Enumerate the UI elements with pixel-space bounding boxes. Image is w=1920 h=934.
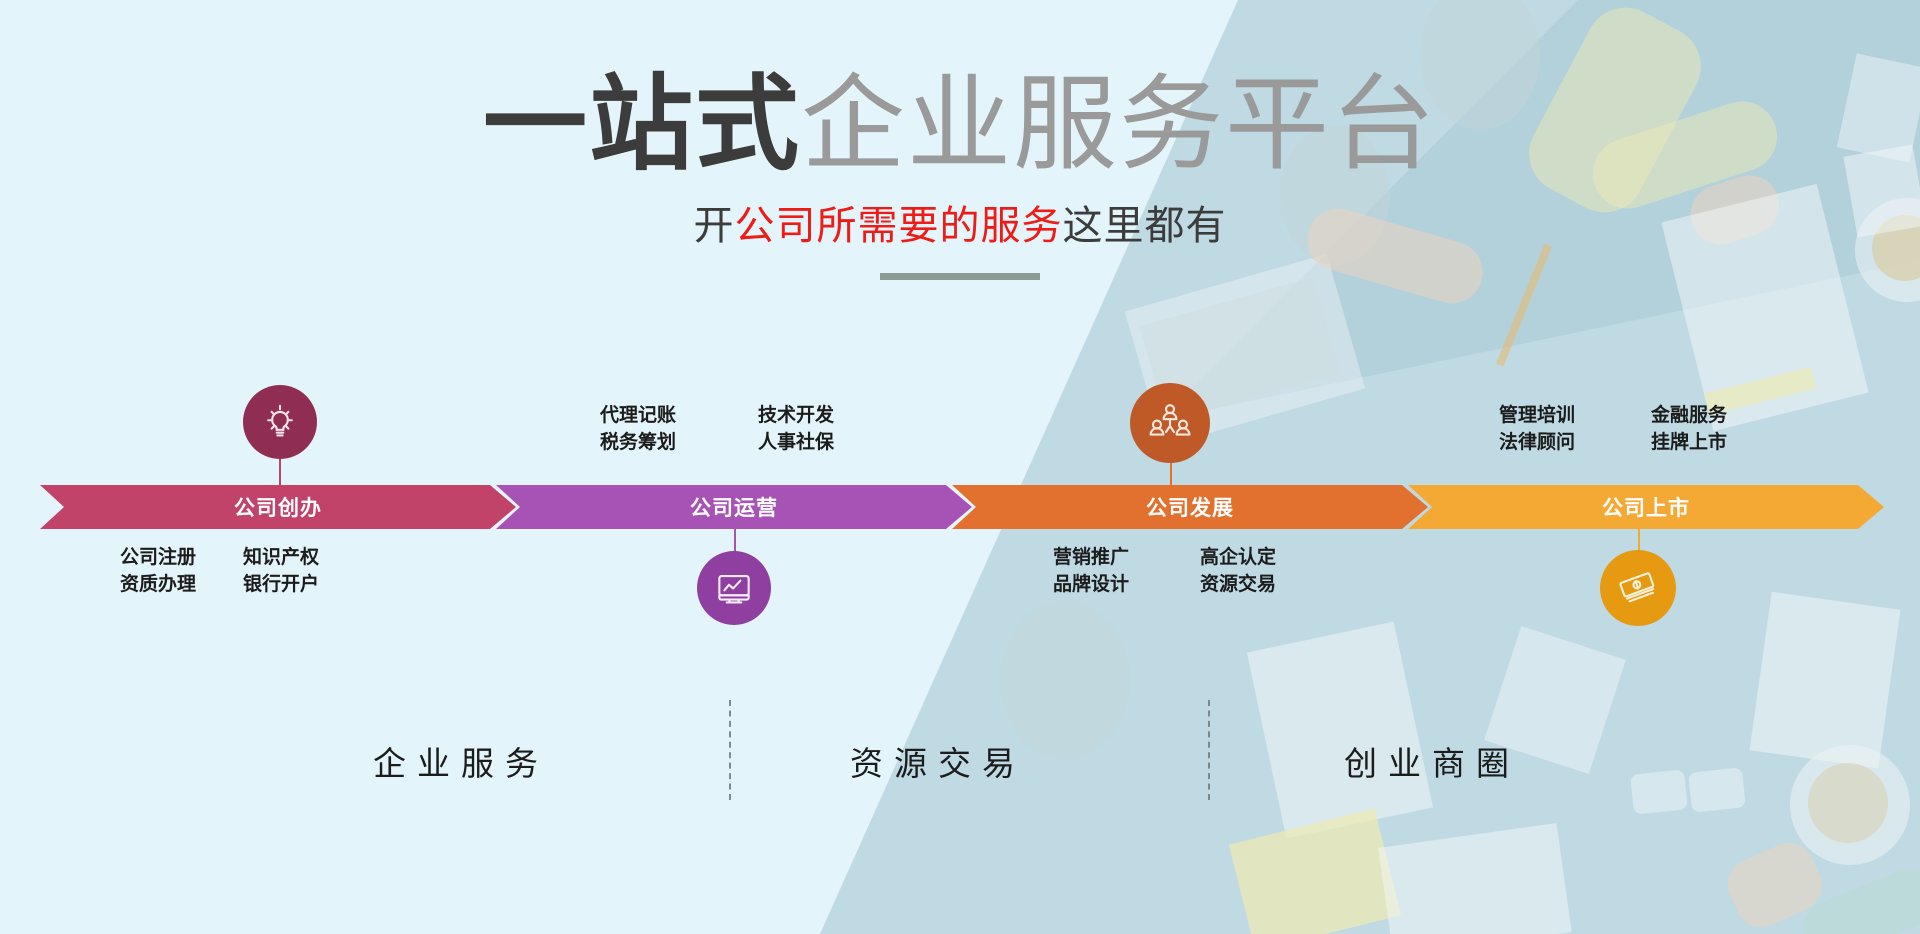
timeline-stage-3-label: 公司发展 xyxy=(1146,492,1234,522)
category-startup-circle[interactable]: 创业商圈 xyxy=(1344,737,1520,785)
node-stage-2[interactable] xyxy=(697,551,771,625)
timeline-stage-3[interactable]: 公司发展 xyxy=(952,485,1428,529)
bg-glasses-lens-right xyxy=(1688,767,1746,812)
feature-text: 高企认定 xyxy=(1200,545,1276,572)
page-subtitle: 开公司所需要的服务这里都有 xyxy=(0,193,1920,251)
feature-text: 公司注册 xyxy=(120,545,196,572)
node-stage-1[interactable] xyxy=(243,385,317,459)
title-underline-rule xyxy=(880,273,1040,280)
feature-text: 金融服务 xyxy=(1651,403,1727,430)
process-timeline: 公司创办 公司运营 公司发展 公司上市 xyxy=(0,485,1920,529)
category-divider-1 xyxy=(729,700,731,800)
lightbulb-icon xyxy=(259,401,301,443)
bg-hand-2 xyxy=(1720,835,1831,934)
feature-text: 人事社保 xyxy=(758,430,834,457)
features-stage-2-left: 代理记账 税务筹划 xyxy=(600,403,676,457)
category-resource-trade[interactable]: 资源交易 xyxy=(850,737,1026,785)
bg-person-arm-3 xyxy=(1794,861,1920,934)
page-title: 一站式企业服务平台 xyxy=(0,64,1920,187)
bg-paper-7 xyxy=(1378,823,1572,934)
feature-text: 法律顾问 xyxy=(1499,430,1575,457)
category-divider-2 xyxy=(1208,700,1210,800)
people-group-icon xyxy=(1146,399,1194,447)
headline-block: 一站式企业服务平台 开公司所需要的服务这里都有 xyxy=(0,0,1920,280)
timeline-stage-2-label: 公司运营 xyxy=(690,492,778,522)
stem-stage-1 xyxy=(279,455,281,487)
bg-person-head-3 xyxy=(1000,600,1130,760)
features-stage-3-right: 高企认定 资源交易 xyxy=(1200,545,1276,599)
page-title-strong: 一站式 xyxy=(483,67,801,183)
bg-glasses-lens-left xyxy=(1630,769,1688,814)
features-stage-1-right: 知识产权 银行开户 xyxy=(243,545,319,599)
money-stack-icon xyxy=(1615,565,1661,611)
timeline-stage-4-label: 公司上市 xyxy=(1602,492,1690,522)
timeline-stage-1-label: 公司创办 xyxy=(234,492,322,522)
bg-paper-4 xyxy=(1247,621,1433,838)
bg-sticky-note xyxy=(1229,808,1401,934)
timeline-stage-2[interactable]: 公司运营 xyxy=(496,485,972,529)
features-stage-1-left: 公司注册 资质办理 xyxy=(120,545,196,599)
bg-coffee-liquid-2 xyxy=(1808,763,1888,843)
feature-text: 银行开户 xyxy=(243,572,319,599)
feature-text: 管理培训 xyxy=(1499,403,1575,430)
feature-text: 营销推广 xyxy=(1053,545,1129,572)
monitor-chart-icon xyxy=(712,566,756,610)
subtitle-highlight: 公司所需要的服务 xyxy=(735,204,1063,248)
category-enterprise-service[interactable]: 企业服务 xyxy=(373,737,549,785)
features-stage-3-left: 营销推广 品牌设计 xyxy=(1053,545,1129,599)
subtitle-suffix: 这里都有 xyxy=(1063,204,1227,248)
feature-text: 资质办理 xyxy=(120,572,196,599)
node-stage-4[interactable] xyxy=(1600,550,1676,626)
features-stage-4-right: 金融服务 挂牌上市 xyxy=(1651,403,1727,457)
feature-text: 税务筹划 xyxy=(600,430,676,457)
feature-text: 技术开发 xyxy=(758,403,834,430)
feature-text: 知识产权 xyxy=(243,545,319,572)
timeline-stage-1[interactable]: 公司创办 xyxy=(40,485,516,529)
bg-paper-6 xyxy=(1749,592,1900,769)
poster-stage: 一站式企业服务平台 开公司所需要的服务这里都有 公司创办 公司运营 xyxy=(0,0,1920,934)
feature-text: 挂牌上市 xyxy=(1651,430,1727,457)
bg-coffee-cup-2 xyxy=(1790,745,1910,865)
feature-text: 品牌设计 xyxy=(1053,572,1129,599)
subtitle-prefix: 开 xyxy=(694,204,735,248)
feature-text: 资源交易 xyxy=(1200,572,1276,599)
features-stage-4-left: 管理培训 法律顾问 xyxy=(1499,403,1575,457)
page-title-light: 企业服务平台 xyxy=(801,67,1437,183)
timeline-stage-4[interactable]: 公司上市 xyxy=(1408,485,1884,529)
node-stage-3[interactable] xyxy=(1130,383,1210,463)
feature-text: 代理记账 xyxy=(600,403,676,430)
features-stage-2-right: 技术开发 人事社保 xyxy=(758,403,834,457)
